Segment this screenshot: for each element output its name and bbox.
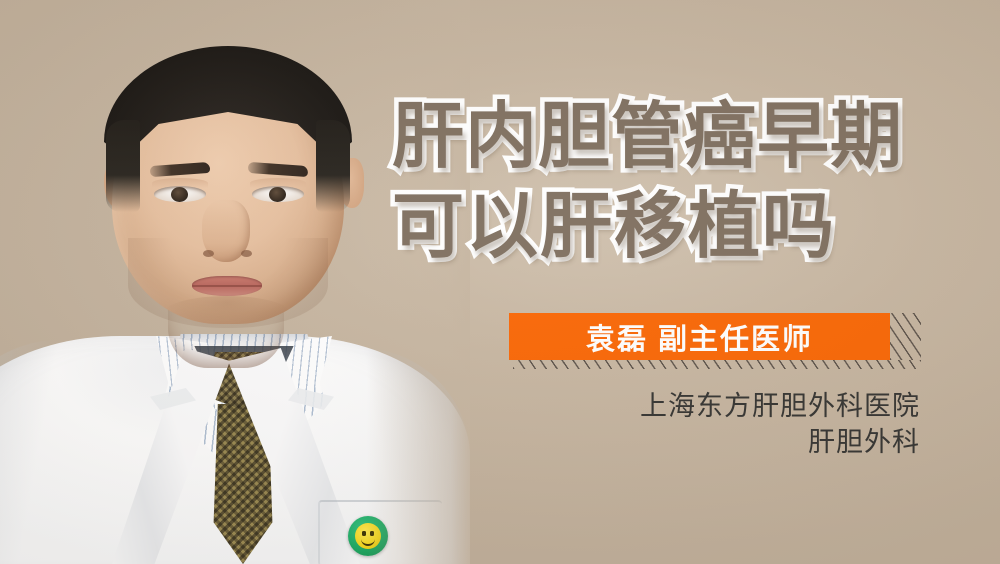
hatch-decoration-bottom bbox=[513, 360, 921, 369]
eyelid-left bbox=[152, 178, 208, 188]
eyelid-right bbox=[250, 178, 306, 188]
headline-title: 肝内胆管癌早期 可以肝移植吗 bbox=[392, 92, 972, 272]
lab-coat-shadow-left bbox=[0, 340, 90, 564]
iris-left bbox=[171, 187, 188, 202]
hair-sideburn-left bbox=[106, 120, 140, 212]
nostril-right bbox=[241, 250, 252, 257]
headline-line-1: 肝内胆管癌早期 bbox=[392, 92, 972, 182]
eye-left bbox=[154, 186, 206, 202]
iris-right bbox=[269, 187, 286, 202]
chin-shadow bbox=[164, 296, 290, 330]
smiley-eye-right bbox=[370, 531, 374, 536]
hospital-name: 上海东方肝胆外科医院 bbox=[520, 388, 920, 424]
smiley-face bbox=[355, 523, 381, 549]
hair-sideburn-right bbox=[316, 120, 350, 212]
mouth-line bbox=[192, 285, 262, 287]
smiley-badge-pin-icon bbox=[348, 516, 388, 556]
nostril-left bbox=[203, 250, 214, 257]
smiley-eye-left bbox=[362, 531, 366, 536]
headline-line-2: 可以肝移植吗 bbox=[392, 182, 972, 272]
eye-right bbox=[252, 186, 304, 202]
video-thumbnail-poster: 肝内胆管癌早期 可以肝移植吗 袁磊 副主任医师 上海东方肝胆外科医院 肝胆外科 bbox=[0, 0, 1000, 564]
smiley-mouth bbox=[361, 536, 375, 546]
department-name: 肝胆外科 bbox=[520, 424, 920, 460]
name-badge-bar: 袁磊 副主任医师 bbox=[509, 313, 890, 360]
hatch-decoration-right bbox=[890, 313, 921, 360]
doctor-name-and-title: 袁磊 副主任医师 bbox=[586, 316, 813, 358]
doctor-name-badge: 袁磊 副主任医师 bbox=[509, 313, 921, 369]
doctor-portrait-photo bbox=[0, 0, 470, 564]
affiliation-block: 上海东方肝胆外科医院 肝胆外科 bbox=[520, 388, 920, 460]
